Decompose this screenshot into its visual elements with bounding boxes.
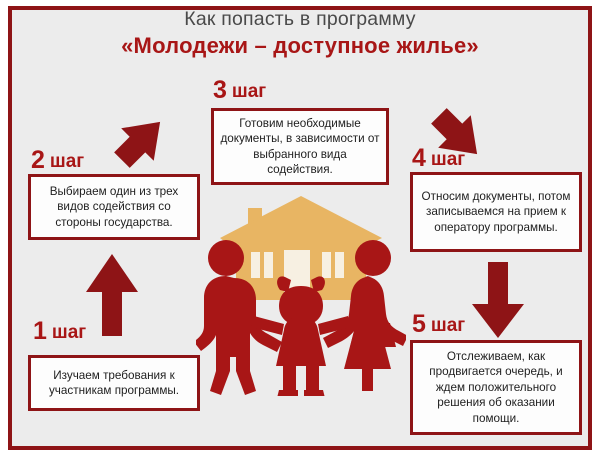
step-label-1: 1шаг	[33, 319, 86, 344]
step-word-2: шаг	[50, 151, 84, 172]
arrow-down-icon	[470, 262, 526, 340]
title-line-1: Как попасть в программу	[0, 8, 600, 31]
step-box-3: Готовим необходимые документы, в зависим…	[211, 108, 389, 185]
step-text-1: Изучаем требования к участникам программ…	[36, 368, 192, 399]
step-text-5: Отслеживаем, как продвигается очередь, и…	[418, 349, 574, 427]
step-label-3: 3шаг	[213, 78, 266, 103]
step-text-4: Относим документы, потом записываемся на…	[418, 189, 574, 236]
family-and-house-illustration	[196, 186, 406, 396]
step-box-1: Изучаем требования к участникам программ…	[28, 355, 200, 411]
arrow-up-icon	[84, 252, 140, 338]
step-number-2: 2	[31, 146, 45, 174]
arrow-down-right-icon	[427, 104, 489, 166]
step-label-5: 5шаг	[412, 312, 465, 337]
page-title: Как попасть в программу «Молодежи – дост…	[0, 8, 600, 59]
step-number-5: 5	[412, 310, 426, 338]
step-word-1: шаг	[52, 322, 86, 343]
step-text-2: Выбираем один из трех видов содействия с…	[36, 184, 192, 231]
step-box-2: Выбираем один из трех видов содействия с…	[28, 174, 200, 240]
step-word-3: шаг	[232, 81, 266, 102]
step-box-4: Относим документы, потом записываемся на…	[410, 172, 582, 252]
step-box-5: Отслеживаем, как продвигается очередь, и…	[410, 340, 582, 435]
step-number-1: 1	[33, 317, 47, 345]
step-number-4: 4	[412, 144, 426, 172]
step-label-2: 2шаг	[31, 148, 84, 173]
infographic-poster: Как попасть в программу «Молодежи – дост…	[0, 0, 600, 463]
step-word-5: шаг	[431, 315, 465, 336]
step-number-3: 3	[213, 76, 227, 104]
step-text-3: Готовим необходимые документы, в зависим…	[219, 116, 381, 178]
title-line-2: «Молодежи – доступное жилье»	[0, 32, 600, 59]
arrow-up-right-icon	[110, 110, 172, 172]
